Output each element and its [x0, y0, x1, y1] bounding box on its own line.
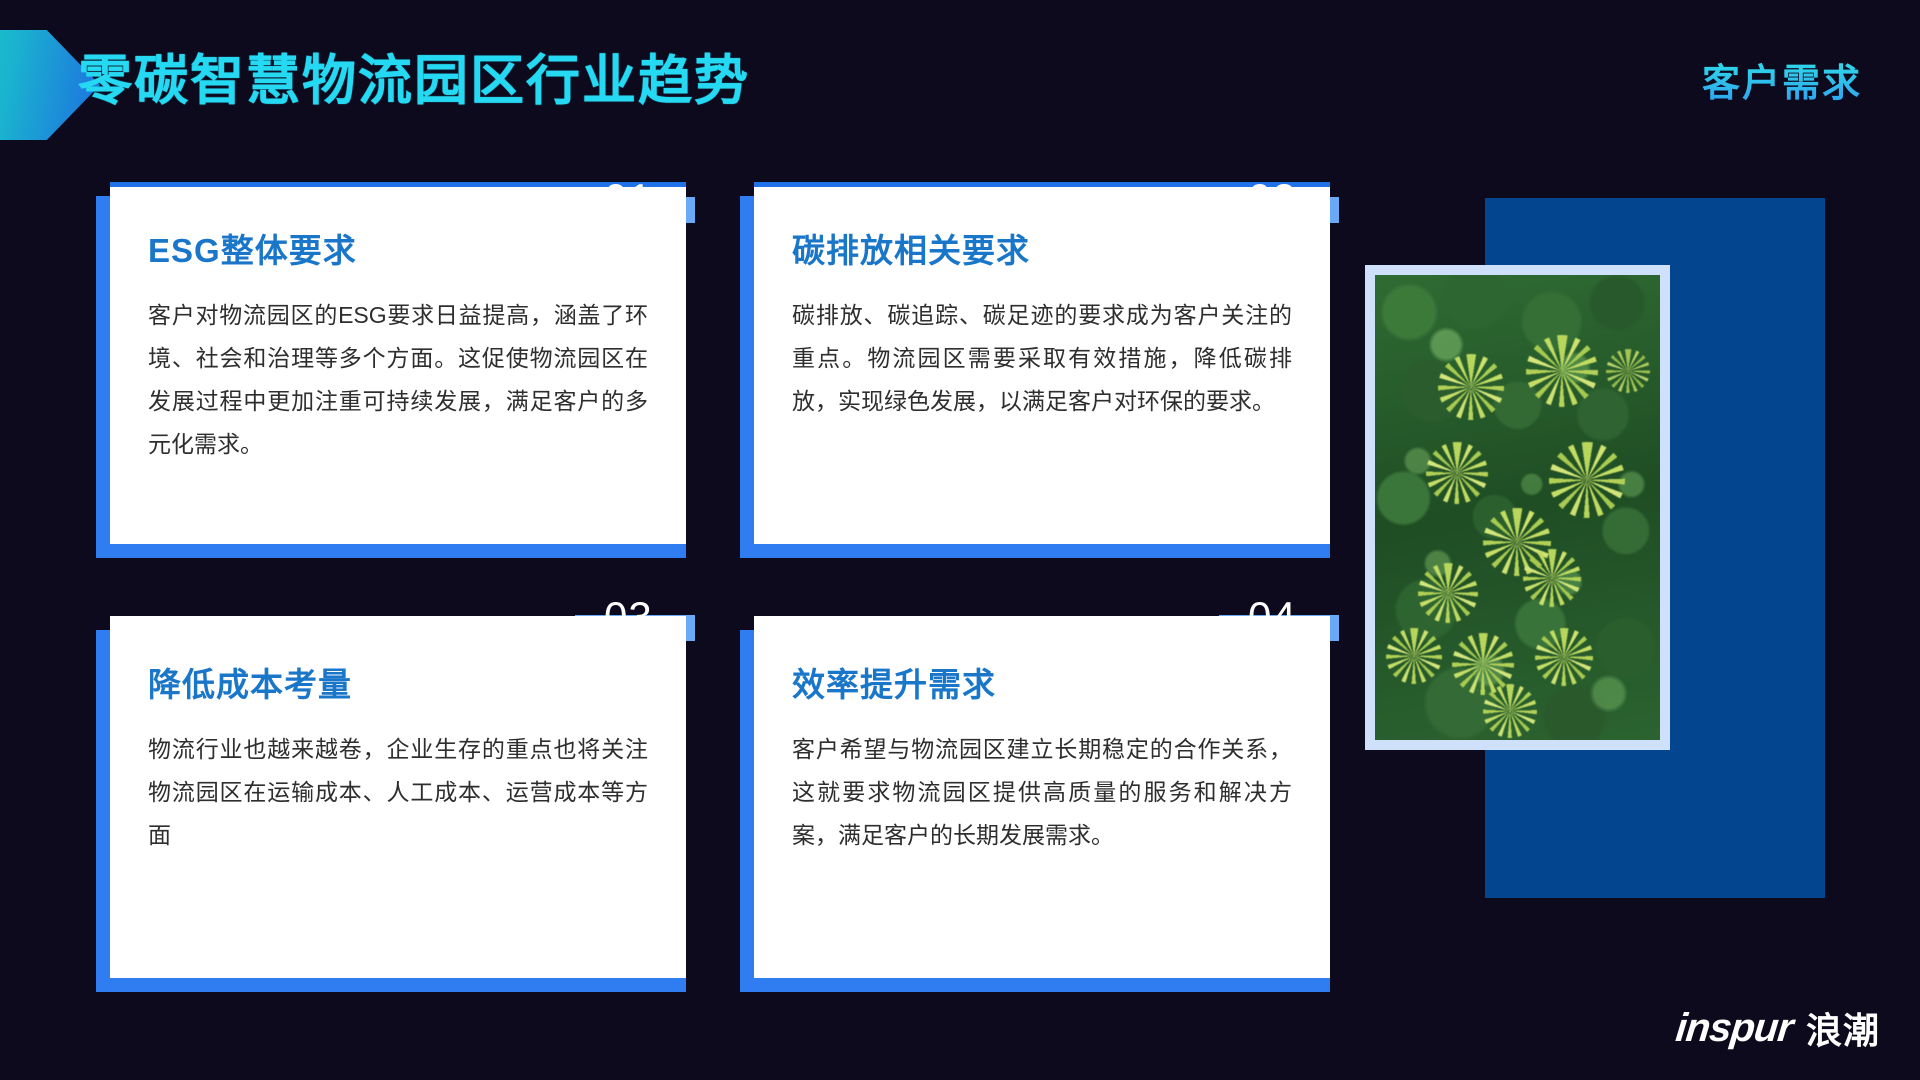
palm-rosette [1526, 335, 1598, 407]
card-04-body: 客户希望与物流园区建立长期稳定的合作关系，这就要求物流园区提供高质量的服务和解决… [792, 728, 1292, 857]
section-label: 客户需求 [1702, 52, 1862, 107]
card-04-number: 04 [1248, 596, 1297, 638]
card-02-accent-bottom [740, 544, 1330, 558]
palm-rosette [1606, 349, 1650, 393]
card-02-accent-left [740, 196, 754, 558]
card-03-number: 03 [604, 596, 653, 638]
card-01-accent-bottom [96, 544, 686, 558]
palm-rosette [1549, 442, 1625, 518]
forest-photo-frame [1365, 265, 1670, 750]
card-01-body: 客户对物流园区的ESG要求日益提高，涵盖了环境、社会和治理等多个方面。这促使物流… [148, 294, 648, 466]
card-03-title: 降低成本考量 [148, 658, 352, 706]
card-02-body: 碳排放、碳追踪、碳足迹的要求成为客户关注的重点。物流园区需要采取有效措施，降低碳… [792, 294, 1292, 423]
palm-rosette [1438, 354, 1504, 420]
page-title: 零碳智慧物流园区行业趋势 [78, 36, 750, 115]
card-04-accent-left [740, 630, 754, 992]
card-02-number: 02 [1248, 178, 1297, 220]
inspur-logo: inspur 浪潮 [1676, 1002, 1880, 1054]
slide-root: 零碳智慧物流园区行业趋势 客户需求 ESG整体要求 客 [0, 0, 1920, 1080]
logo-latin-text: inspur [1673, 1006, 1794, 1051]
card-01-title: ESG整体要求 [148, 224, 357, 272]
card-03-body: 物流行业也越来越卷，企业生存的重点也将关注物流园区在运输成本、人工成本、运营成本… [148, 728, 648, 857]
card-02-surface: 碳排放相关要求 碳排放、碳追踪、碳足迹的要求成为客户关注的重点。物流园区需要采取… [754, 182, 1330, 544]
forest-photo-image [1375, 275, 1660, 740]
card-01-number: 01 [604, 178, 653, 220]
card-02-title: 碳排放相关要求 [792, 224, 1030, 272]
card-03-accent-bottom [96, 978, 686, 992]
card-04-title: 效率提升需求 [792, 658, 996, 706]
palm-rosette [1535, 628, 1593, 686]
card-04-surface: 效率提升需求 客户希望与物流园区建立长期稳定的合作关系，这就要求物流园区提供高质… [754, 616, 1330, 978]
card-01-accent-left [96, 196, 110, 558]
card-03-accent-left [96, 630, 110, 992]
card-01-top-rule [110, 182, 686, 187]
card-03-surface: 降低成本考量 物流行业也越来越卷，企业生存的重点也将关注物流园区在运输成本、人工… [110, 616, 686, 978]
card-01-surface: ESG整体要求 客户对物流园区的ESG要求日益提高，涵盖了环境、社会和治理等多个… [110, 182, 686, 544]
logo-chinese-text: 浪潮 [1806, 1002, 1880, 1054]
palm-rosette [1418, 563, 1478, 623]
card-04-accent-bottom [740, 978, 1330, 992]
card-02-top-rule [754, 182, 1330, 187]
